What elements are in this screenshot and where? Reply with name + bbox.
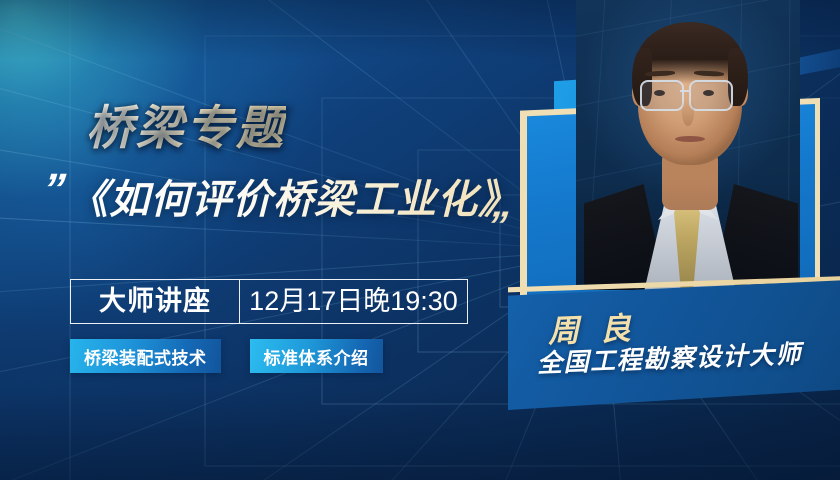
topic-tag-1-label: 桥梁装配式技术 [84, 344, 207, 369]
poster-root: ” 桥梁专题 《如何评价桥梁工业化》 ” 大师讲座 12月17日晚19:30 桥… [0, 0, 840, 480]
photo-shadow-overlay [576, 0, 800, 290]
quote-open-mark: ” [41, 168, 65, 212]
left-content-column: ” 桥梁专题 《如何评价桥梁工业化》 ” 大师讲座 12月17日晚19:30 桥… [0, 0, 540, 480]
lecture-info-box: 大师讲座 12月17日晚19:30 [70, 279, 468, 324]
topic-tag-2: 标准体系介绍 [250, 339, 383, 373]
topic-tag-list: 桥梁装配式技术 标准体系介绍 [70, 339, 383, 373]
lecture-datetime: 12月17日晚19:30 [240, 280, 467, 323]
topic-tag-1: 桥梁装配式技术 [70, 339, 221, 373]
lecture-badge-label: 大师讲座 [99, 288, 211, 315]
page-title: 桥梁专题 [86, 100, 286, 155]
topic-tag-2-label: 标准体系介绍 [264, 344, 369, 369]
speaker-photo [576, 0, 800, 290]
lecture-datetime-label: 12月17日晚19:30 [249, 288, 458, 315]
lecture-badge: 大师讲座 [71, 280, 240, 323]
speaker-portrait-composition: 周 良 全国工程勘察设计大师 [500, 0, 840, 480]
lecture-title: 《如何评价桥梁工业化》 [68, 176, 519, 224]
